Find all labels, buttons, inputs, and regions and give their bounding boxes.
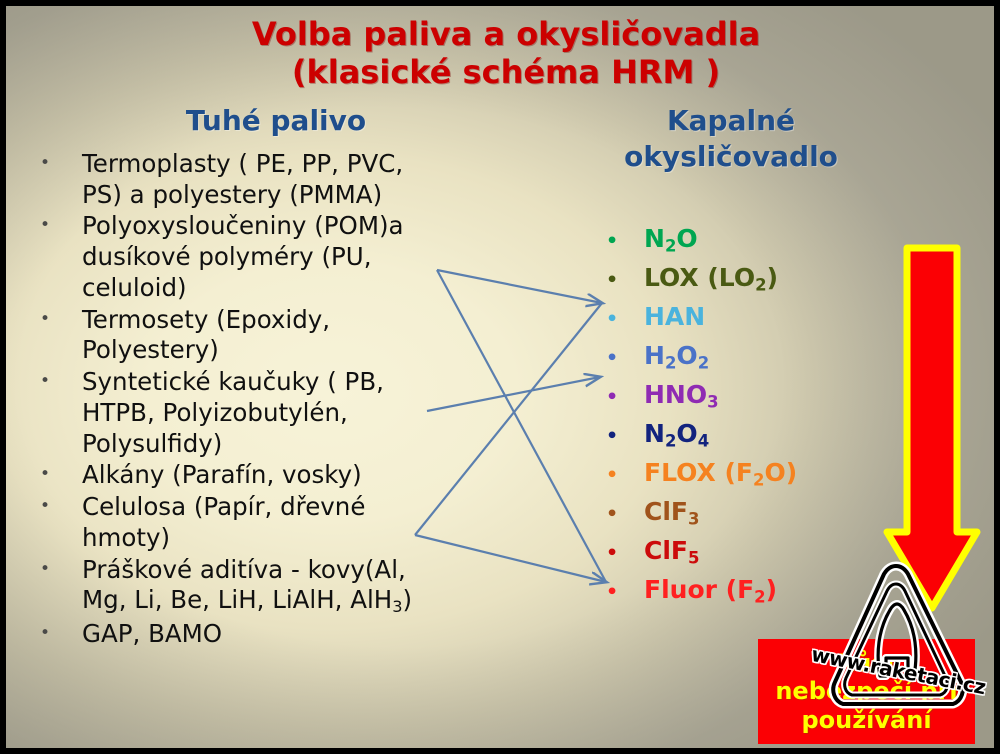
warning-line-1: Růst [836, 649, 897, 677]
list-item-label: ClF3 [644, 499, 906, 528]
bullet-icon: • [606, 544, 644, 563]
liquid-oxidizer-list: •N2O•LOX (LO2)•HAN•H2O2•HNO3•N2O4•FLOX (… [606, 226, 906, 616]
list-item: •Celulosa (Papír, dřevné hmoty) [32, 492, 452, 553]
list-item: •HAN [606, 304, 906, 343]
list-item: •GAP, BAMO [32, 619, 452, 650]
list-item-label: ClF5 [644, 538, 906, 567]
bullet-icon: • [606, 583, 644, 602]
bullet-icon: • [32, 149, 82, 179]
list-item: •LOX (LO2) [606, 265, 906, 304]
list-item: •ClF5 [606, 538, 906, 577]
red-down-arrow [883, 244, 981, 614]
list-item-label: Alkány (Parafín, vosky) [82, 460, 452, 491]
warning-box: Růst nebezpečí při používání [758, 639, 975, 744]
list-item: •FLOX (F2O) [606, 460, 906, 499]
bullet-icon: • [606, 466, 644, 485]
bullet-icon: • [606, 232, 644, 251]
right-heading-line-1: Kapalné [667, 104, 795, 137]
bullet-icon: • [606, 388, 644, 407]
list-item: •Syntetické kaučuky ( PB, HTPB, Polyizob… [32, 367, 452, 459]
list-item: •Termoplasty ( PE, PP, PVC, PS) a polyes… [32, 149, 452, 210]
connector-arrow-1 [437, 270, 602, 303]
list-item-label: Termosety (Epoxidy, Polyestery) [82, 305, 452, 366]
right-heading-line-2: okysličovadlo [624, 140, 838, 173]
list-item-label: FLOX (F2O) [644, 460, 906, 489]
bullet-icon: • [32, 305, 82, 335]
warning-line-3: používání [801, 706, 931, 734]
bullet-icon: • [32, 555, 82, 585]
list-item-label: H2O2 [644, 343, 906, 372]
bullet-icon: • [606, 349, 644, 368]
bullet-icon: • [32, 367, 82, 397]
solid-fuel-list: •Termoplasty ( PE, PP, PVC, PS) a polyes… [32, 149, 452, 651]
bullet-icon: • [606, 427, 644, 446]
bullet-icon: • [32, 460, 82, 490]
warning-line-2: nebezpečí při [775, 677, 957, 705]
bullet-icon: • [606, 271, 644, 290]
list-item-label: N2O [644, 226, 906, 255]
list-item-label: HAN [644, 304, 906, 329]
list-item: •Fluor (F2) [606, 577, 906, 616]
list-item-label: Fluor (F2) [644, 577, 906, 606]
list-item: •H2O2 [606, 343, 906, 382]
list-item-label: LOX (LO2) [644, 265, 906, 294]
list-item-label: Polyoxysloučeniny (POM)a dusíkové polymé… [82, 211, 452, 303]
list-item-label: HNO3 [644, 382, 906, 411]
title-line-1: Volba paliva a okysličovadla [252, 15, 760, 53]
bullet-icon: • [606, 505, 644, 524]
connector-line-1 [437, 270, 606, 582]
slide-canvas: Volba paliva a okysličovadla (klasické s… [0, 0, 1000, 754]
left-column-heading: Tuhé palivo [126, 103, 426, 139]
list-item-label: GAP, BAMO [82, 619, 452, 650]
page-title: Volba paliva a okysličovadla (klasické s… [6, 16, 1000, 92]
right-column-heading: Kapalné okysličovadlo [576, 103, 886, 176]
bullet-icon: • [32, 619, 82, 649]
bullet-icon: • [32, 211, 82, 241]
title-line-2: (klasické schéma HRM ) [6, 54, 1000, 92]
bullet-icon: • [32, 492, 82, 522]
list-item-label: N2O4 [644, 421, 906, 450]
list-item-label: Syntetické kaučuky ( PB, HTPB, Polyizobu… [82, 367, 452, 459]
connector-arrow-2 [427, 377, 600, 411]
bullet-icon: • [606, 310, 644, 329]
list-item: •N2O [606, 226, 906, 265]
list-item-label: Termoplasty ( PE, PP, PVC, PS) a polyest… [82, 149, 452, 210]
list-item-label: Celulosa (Papír, dřevné hmoty) [82, 492, 452, 553]
list-item: •ClF3 [606, 499, 906, 538]
list-item: •Alkány (Parafín, vosky) [32, 460, 452, 491]
warning-text: Růst nebezpečí při používání [771, 649, 961, 734]
list-item: •Práškové aditíva - kovy(Al, Mg, Li, Be,… [32, 555, 452, 618]
list-item: •Polyoxysloučeniny (POM)a dusíkové polym… [32, 211, 452, 303]
list-item: •HNO3 [606, 382, 906, 421]
list-item: •Termosety (Epoxidy, Polyestery) [32, 305, 452, 366]
list-item: •N2O4 [606, 421, 906, 460]
list-item-label: Práškové aditíva - kovy(Al, Mg, Li, Be, … [82, 555, 452, 618]
